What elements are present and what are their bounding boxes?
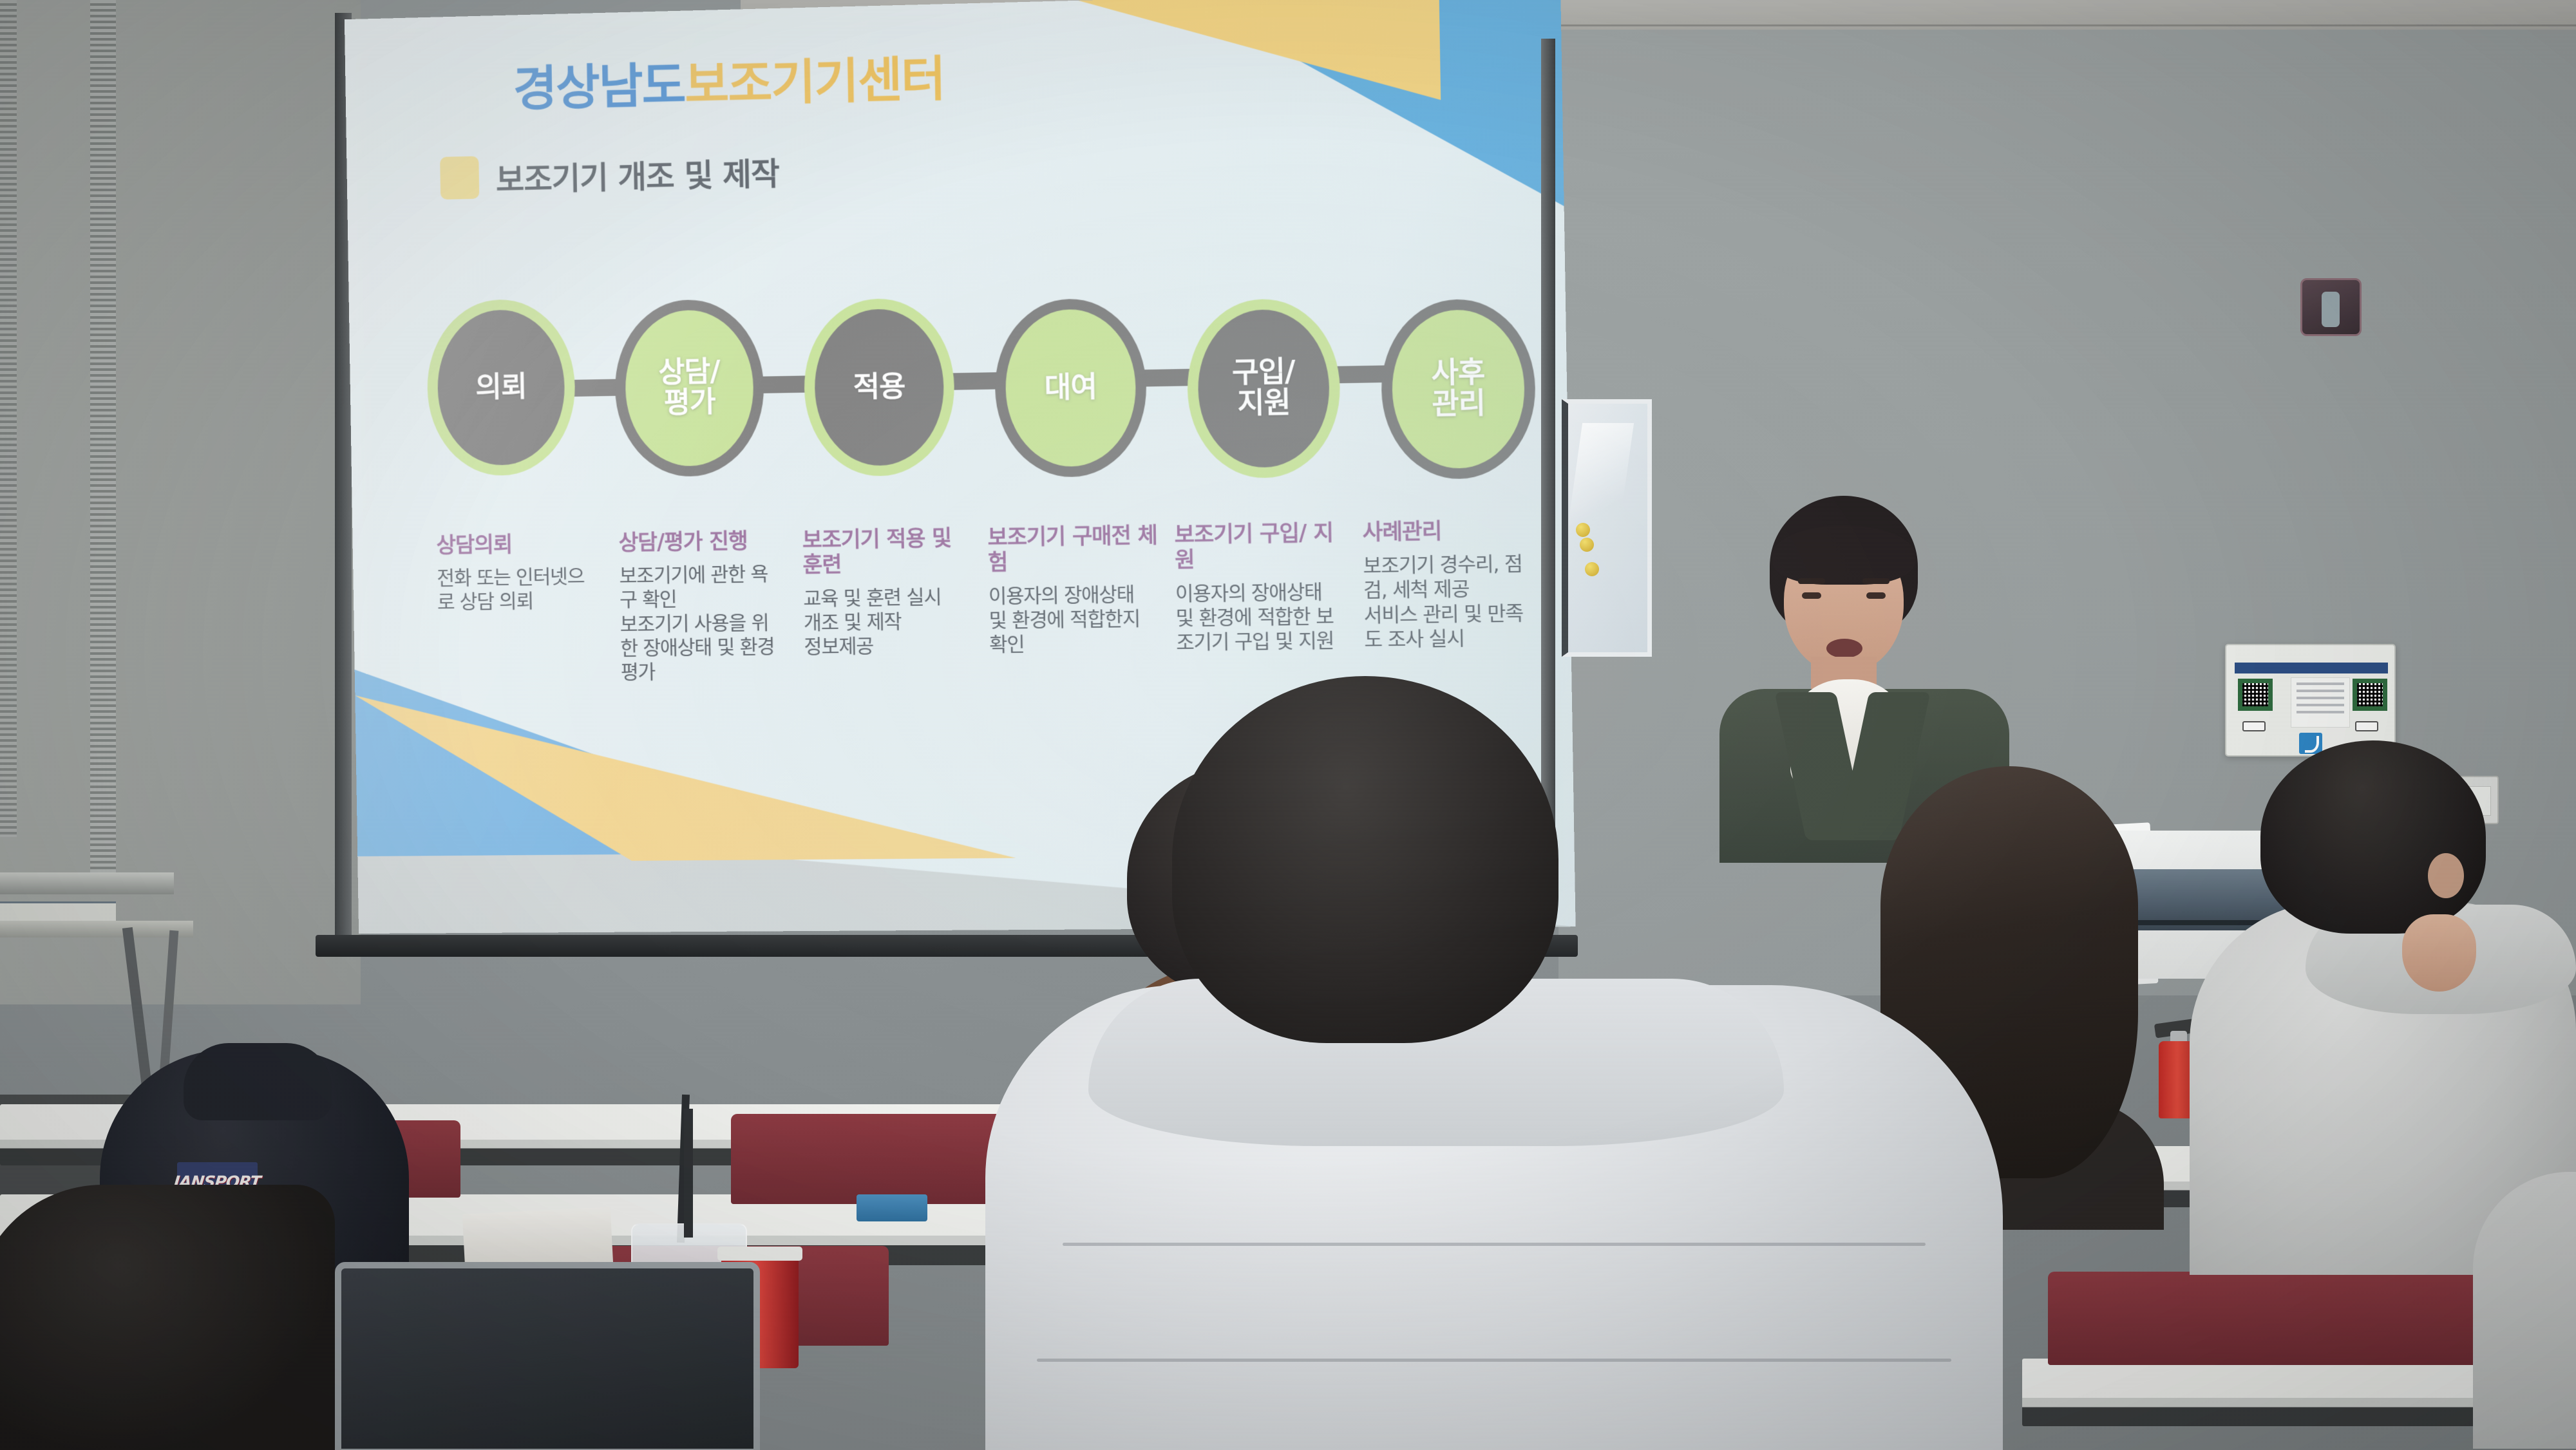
flow-node-1[interactable]: 의뢰 [426,298,576,476]
audience-far-right [2473,1172,2576,1449]
audience-right-ear [2428,853,2464,898]
column-2-heading: 상담/평가 진행 [618,528,788,555]
column-3-body: 교육 및 훈련 실시 개조 및 제작 정보제공 [803,585,975,659]
desk-blue-item [857,1194,927,1221]
text-line [2297,690,2344,692]
text-line [2297,711,2344,713]
info-panel-text-block [2291,677,2350,728]
description-column-2: 상담/평가 진행 보조기기에 관한 욕 구 확인 보조기기 사용을 위 한 장애… [618,528,804,685]
flow-node-5[interactable]: 구입/ 지원 [1186,297,1341,478]
presenter-mouth [1826,639,1862,658]
backpack-strap [184,1043,332,1120]
magnet-icon [1585,562,1599,576]
flow-node-3[interactable]: 적용 [803,297,956,477]
slide-title-region: 경상남도 [513,57,685,117]
whiteboard-glare [1562,423,1634,571]
process-flow-diagram: 의뢰 상담/ 평가 적용 대여 구입/ 지원 사후 관리 [426,279,1539,494]
blind-rail [0,872,174,894]
column-1-heading: 상담의뢰 [436,531,604,558]
column-4-heading: 보조기기 구매전 체험 [987,523,1160,575]
info-panel-header-bar [2235,663,2388,673]
audience-right-hand [2402,914,2476,992]
presenter-eyebrow-left [1798,578,1825,584]
left-shelf [0,921,193,937]
foreground-person-silhouette [0,1185,335,1450]
audience-center-hair [1172,676,1558,1043]
slide-subtitle: 보조기기 개조 및 제작 [495,148,779,200]
puffer-seam [1037,1359,1951,1362]
slide-title-org: 보조기기센터 [685,51,945,113]
column-6-heading: 사례관리 [1362,517,1537,545]
flow-node-6-label: 사후 관리 [1431,358,1485,420]
toggle-switch[interactable] [2242,721,2266,731]
drinking-straw [684,1109,693,1238]
chair-4[interactable] [2048,1272,2492,1365]
presenter-eye-left [1802,592,1821,599]
audience-back-center [985,676,2029,1450]
presenter-fringe [1772,525,1915,585]
slide-title: 경상남도보조기기센터 [513,40,945,120]
column-5-heading: 보조기기 구입/ 지원 [1174,520,1349,573]
left-wall-panel [0,0,361,1004]
column-6-body: 보조기기 경수리, 점 검, 세척 제공 서비스 관리 및 만족 도 조사 실시 [1363,552,1539,652]
text-line [2297,683,2344,685]
description-column-5: 보조기기 구입/ 지원 이용자의 장애상태 및 환경에 적합한 보 조기기 구입… [1174,520,1365,679]
qr-code-icon [2353,679,2387,711]
flow-node-4-label: 대여 [1044,372,1097,404]
description-column-3: 보조기기 적용 및 훈련 교육 및 훈련 실시 개조 및 제작 정보제공 [802,525,990,683]
description-column-6: 사례관리 보조기기 경수리, 점 검, 세척 제공 서비스 관리 및 만족 도 … [1362,517,1555,677]
description-columns: 상담의뢰 전화 또는 인터넷으 로 상담 의뢰 상담/평가 진행 보조기기에 관… [436,517,1555,687]
text-line [2297,697,2344,699]
lecture-hall-scene: 경상남도보조기기센터 보조기기 개조 및 제작 의뢰 상담/ 평가 적용 [0,0,2576,1450]
red-cup-lid [717,1247,802,1261]
wall-info-panel[interactable] [2225,644,2396,757]
magnet-icon [1576,523,1590,537]
slide-subtitle-row: 보조기기 개조 및 제작 [440,148,779,201]
flow-node-5-label: 구입/ 지원 [1232,357,1296,420]
flow-node-6[interactable]: 사후 관리 [1380,298,1537,480]
square-bullet-icon [440,156,479,199]
wall-speaker-icon [2300,278,2362,336]
audience-far-right-body [2473,1172,2576,1449]
column-4-body: 이용자의 장애상태 및 환경에 적합한지 확인 [989,582,1162,657]
text-line [2297,704,2344,706]
whiteboard [1562,399,1652,657]
toggle-switch[interactable] [2355,721,2378,731]
flow-node-2[interactable]: 상담/ 평가 [614,299,765,478]
column-1-body: 전화 또는 인터넷으 로 상담 의뢰 [437,565,605,615]
window-blind-cord-secondary [0,0,17,837]
laptop[interactable] [335,1262,760,1450]
audience-right-hair [2260,740,2486,934]
qr-code-icon [2238,679,2273,711]
column-3-heading: 보조기기 적용 및 훈련 [802,525,974,578]
flow-node-4[interactable]: 대여 [994,297,1148,478]
description-column-1: 상담의뢰 전화 또는 인터넷으 로 상담 의뢰 [436,531,621,687]
windowsill-paper [0,901,116,923]
magnet-icon [1580,538,1594,552]
puffer-seam [1063,1243,1926,1246]
flow-node-1-label: 의뢰 [475,372,527,403]
presenter-eyebrow-right [1862,578,1889,584]
speaker-grille [2322,292,2340,327]
column-5-body: 이용자의 장애상태 및 환경에 적합한 보 조기기 구입 및 지원 [1175,579,1350,655]
flow-node-2-label: 상담/ 평가 [658,357,721,419]
window-blind-cord [90,0,116,882]
description-column-4: 보조기기 구매전 체험 이용자의 장애상태 및 환경에 적합한지 확인 [987,523,1177,681]
column-2-body: 보조기기에 관한 욕 구 확인 보조기기 사용을 위 한 장애상태 및 환경 평… [619,562,790,685]
flow-node-3-label: 적용 [853,372,905,403]
presenter-eye-right [1866,592,1886,599]
